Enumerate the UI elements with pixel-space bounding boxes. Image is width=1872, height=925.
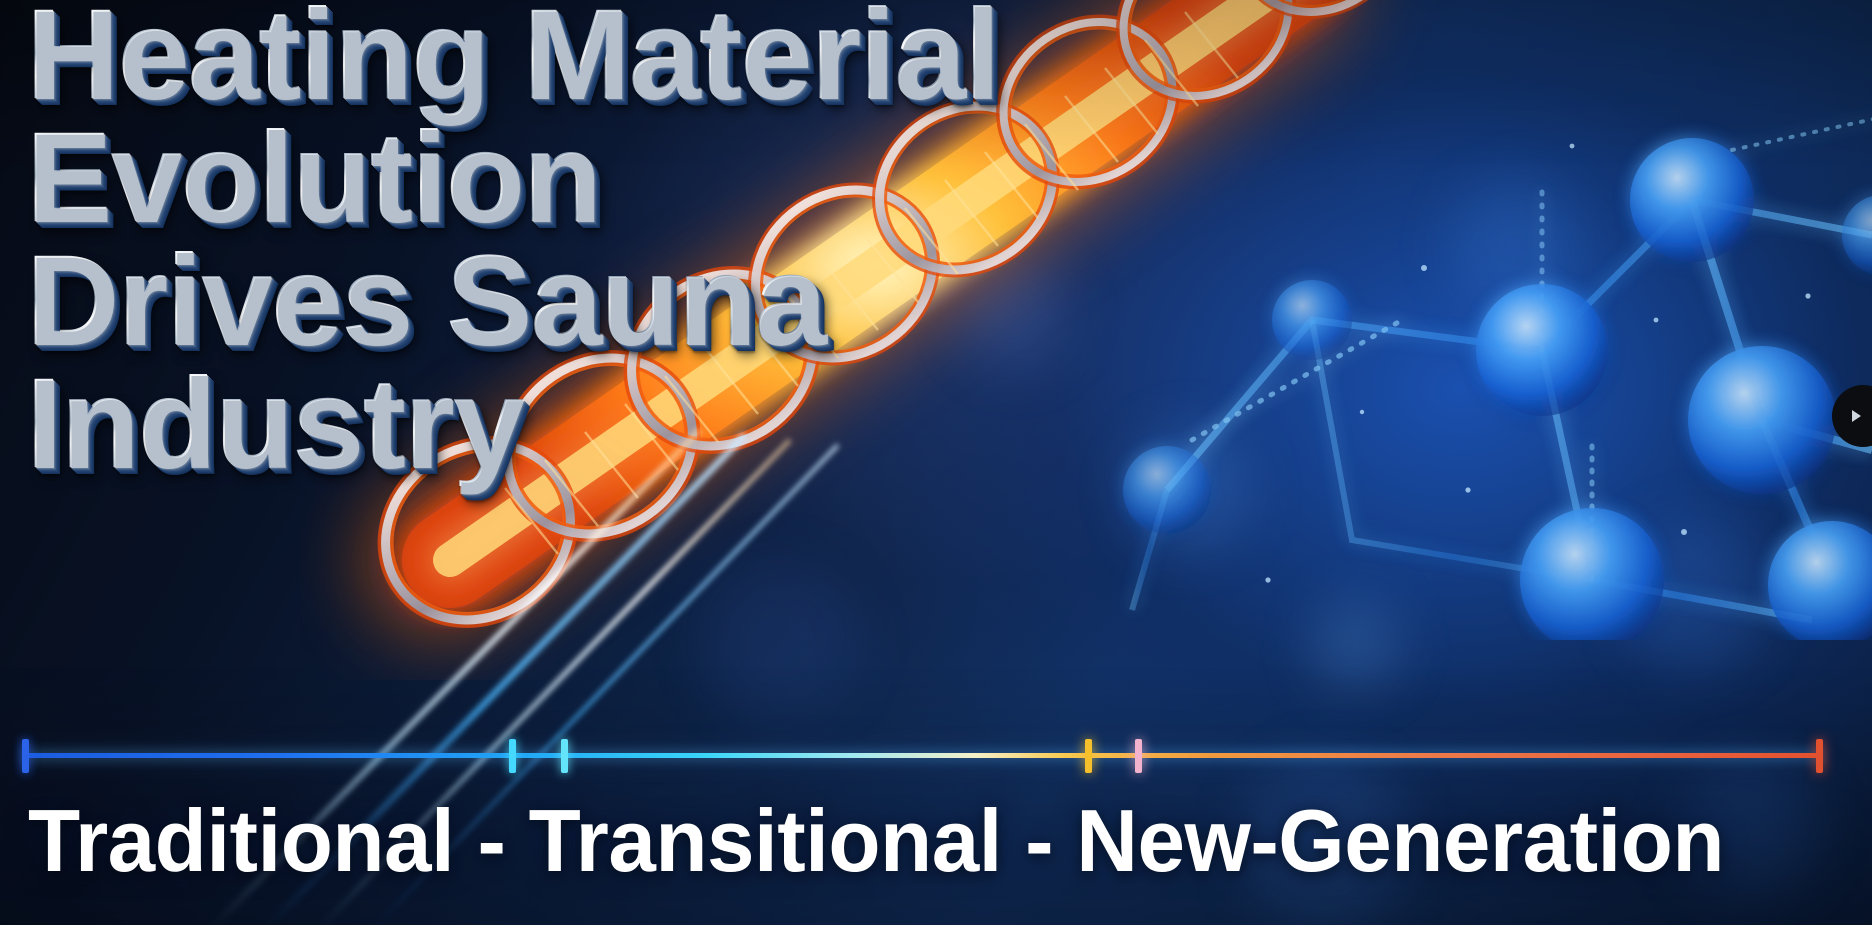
bokeh-blob xyxy=(1130,430,1250,550)
headline-line-3: Drives Sauna xyxy=(26,240,999,363)
headline-line-2: Evolution xyxy=(26,117,999,240)
bokeh-blob xyxy=(1620,520,1770,670)
headline-line-4: Industry xyxy=(26,363,999,486)
timeline-tick-transitional-start xyxy=(561,739,568,773)
timeline-tick-new-generation xyxy=(1135,739,1142,773)
headline-line-1: Heating Material xyxy=(26,0,999,117)
timeline-tick-transitional-end xyxy=(1085,739,1092,773)
hero-banner: Heating Material Evolution Drives Sauna … xyxy=(0,0,1872,925)
bokeh-blob xyxy=(1450,180,1580,310)
timeline-tick-present-day xyxy=(1816,739,1823,773)
molecule-lattice-icon xyxy=(1072,20,1872,640)
bokeh-blob xyxy=(1310,600,1400,690)
timeline-track xyxy=(22,753,1822,758)
evolution-timeline xyxy=(0,736,1872,776)
bokeh-blob xyxy=(700,560,860,720)
carousel-next-button[interactable] xyxy=(1832,385,1872,447)
page-title: Heating Material Evolution Drives Sauna … xyxy=(26,0,999,486)
timeline-caption: Traditional - Transitional - New-Generat… xyxy=(28,790,1724,892)
chevron-right-icon xyxy=(1852,410,1861,422)
timeline-tick-traditional-end xyxy=(509,739,516,773)
timeline-tick-traditional-start xyxy=(22,739,29,773)
